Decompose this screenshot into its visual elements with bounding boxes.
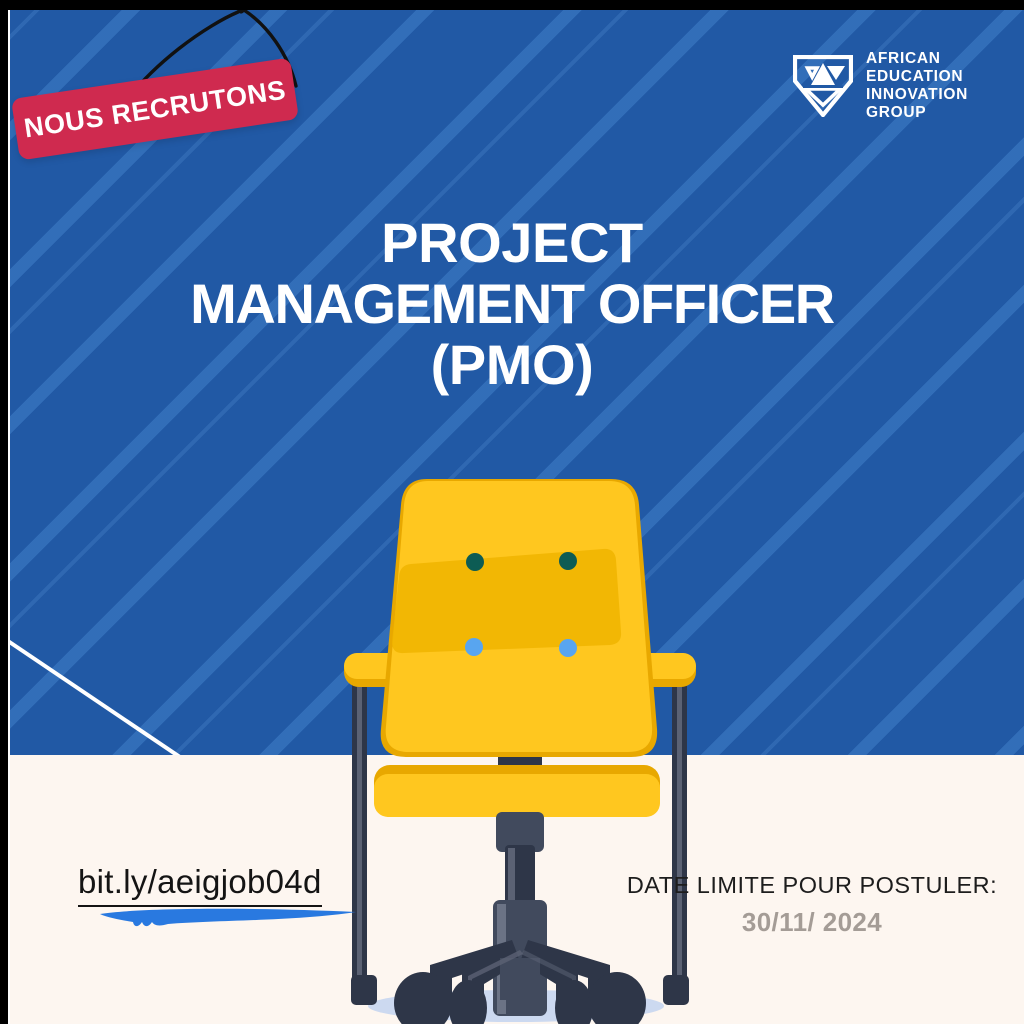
- chair-left-arm-post-highlight: [357, 676, 362, 996]
- chair-right-arm-post-highlight: [677, 676, 682, 996]
- chair-right-arm-foot: [663, 975, 689, 1005]
- logo-line-4: GROUP: [866, 104, 968, 122]
- chair-button-bottom-left: [465, 638, 483, 656]
- deadline-block: DATE LIMITE POUR POSTULER: 30/11/ 2024: [612, 872, 1012, 938]
- frame-top-border: [0, 0, 1024, 10]
- headline-line-2: MANAGEMENT OFFICER: [0, 273, 1024, 334]
- deadline-label: DATE LIMITE POUR POSTULER:: [612, 872, 1012, 899]
- blue-brush-underline: [98, 905, 360, 933]
- frame-left-border: [0, 0, 8, 1024]
- chair-backrest-inner-panel: [392, 549, 621, 653]
- chair-base-leg-center: [500, 958, 540, 1000]
- job-title-headline: PROJECT MANAGEMENT OFFICER (PMO): [0, 212, 1024, 395]
- logo-line-3: INNOVATION: [866, 86, 968, 104]
- logo-line-1: AFRICAN: [866, 50, 968, 68]
- aeig-logo: AFRICAN EDUCATION INNOVATION GROUP: [793, 50, 968, 123]
- application-url[interactable]: bit.ly/aeigjob04d: [78, 863, 322, 907]
- chair-button-top-right: [559, 552, 577, 570]
- logo-wordmark: AFRICAN EDUCATION INNOVATION GROUP: [866, 50, 968, 123]
- chair-button-top-left: [466, 553, 484, 571]
- deadline-date: 30/11/ 2024: [612, 907, 1012, 938]
- chair-seat: [374, 774, 660, 817]
- headline-line-3: (PMO): [0, 334, 1024, 395]
- chair-button-bottom-right: [559, 639, 577, 657]
- job-posting-poster: NOUS RECRUTONS AFRICAN EDUCATION INNOVAT…: [0, 0, 1024, 1024]
- logo-line-2: EDUCATION: [866, 68, 968, 86]
- frame-inner-hairline: [8, 10, 10, 1024]
- application-link-block[interactable]: bit.ly/aeigjob04d: [78, 863, 322, 907]
- headline-line-1: PROJECT: [0, 212, 1024, 273]
- aeig-shield-triangles-logo-icon: [793, 55, 853, 117]
- chair-left-arm-foot: [351, 975, 377, 1005]
